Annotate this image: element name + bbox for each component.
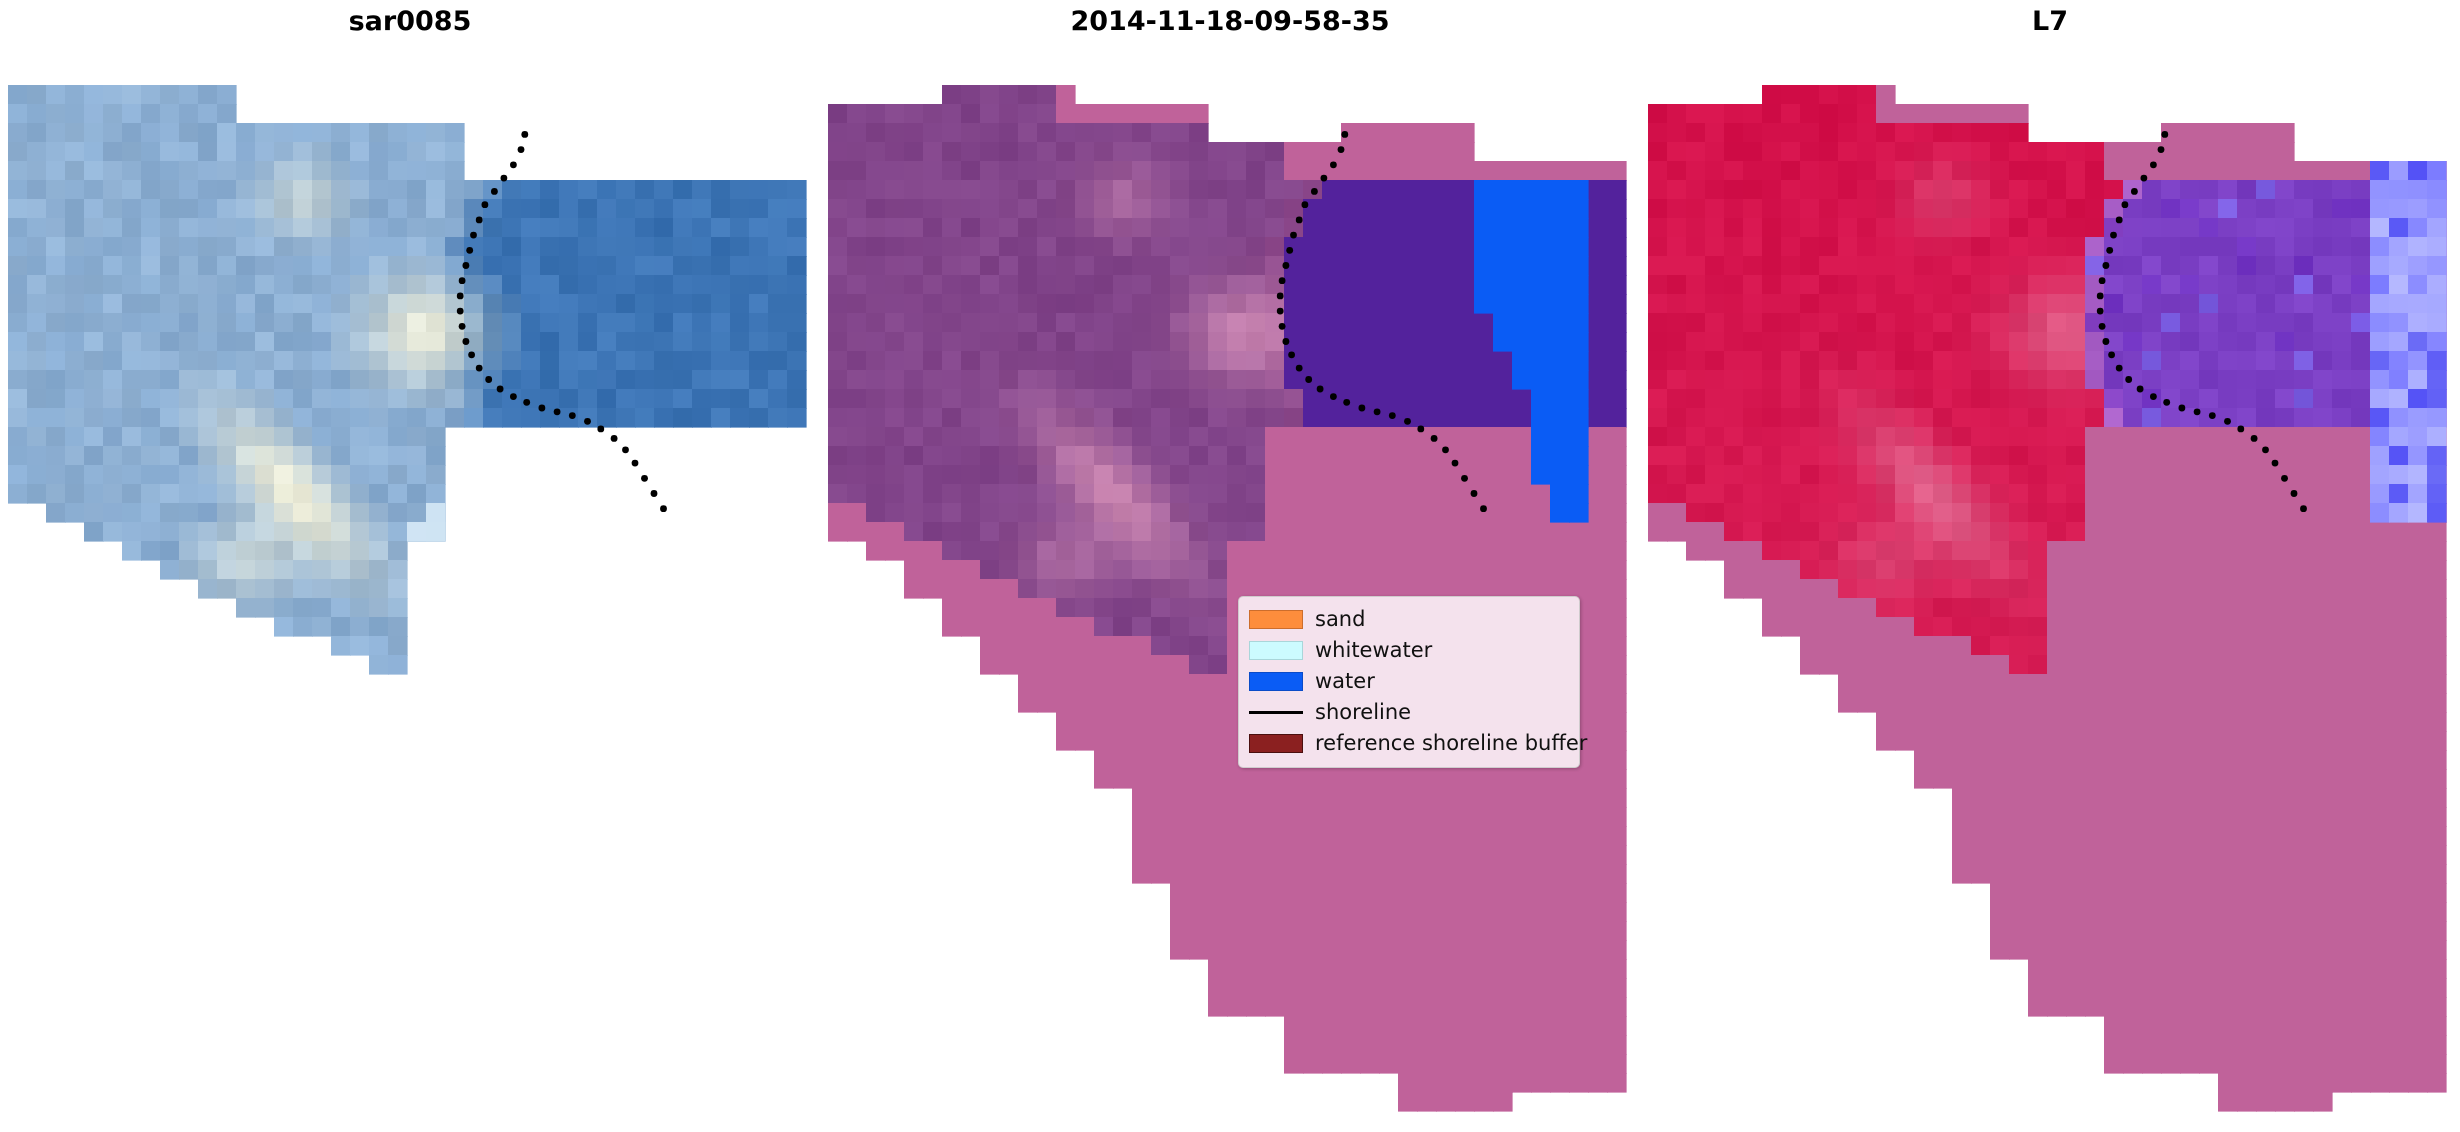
satellite-image-l7 xyxy=(1640,0,2460,1132)
legend-label-reference-shoreline-buffer: reference shoreline buffer xyxy=(1315,733,1587,754)
legend-label-water: water xyxy=(1315,671,1375,692)
legend-label-sand: sand xyxy=(1315,609,1365,630)
legend-item-reference-shoreline-buffer: reference shoreline buffer xyxy=(1249,728,1569,759)
legend: sand whitewater water shoreline referenc… xyxy=(1238,596,1580,768)
legend-item-whitewater: whitewater xyxy=(1249,635,1569,666)
legend-label-whitewater: whitewater xyxy=(1315,640,1432,661)
legend-swatch-whitewater xyxy=(1249,641,1303,660)
classified-image-2014-11-18-09-58-35 xyxy=(820,0,1640,1132)
satellite-image-sar0085 xyxy=(0,0,820,1132)
legend-swatch-sand xyxy=(1249,610,1303,629)
legend-item-water: water xyxy=(1249,666,1569,697)
legend-swatch-reference-shoreline-buffer xyxy=(1249,734,1303,753)
panel-sar0085: sar0085 xyxy=(0,0,820,1132)
legend-label-shoreline: shoreline xyxy=(1315,702,1411,723)
panel-l7: L7 xyxy=(1640,0,2460,1132)
legend-swatch-shoreline xyxy=(1249,703,1303,722)
figure-root: sar0085 2014-11-18-09-58-35 L7 sand whit… xyxy=(0,0,2460,1132)
panel-classified: 2014-11-18-09-58-35 xyxy=(820,0,1640,1132)
legend-item-shoreline: shoreline xyxy=(1249,697,1569,728)
legend-item-sand: sand xyxy=(1249,604,1569,635)
legend-swatch-water xyxy=(1249,672,1303,691)
